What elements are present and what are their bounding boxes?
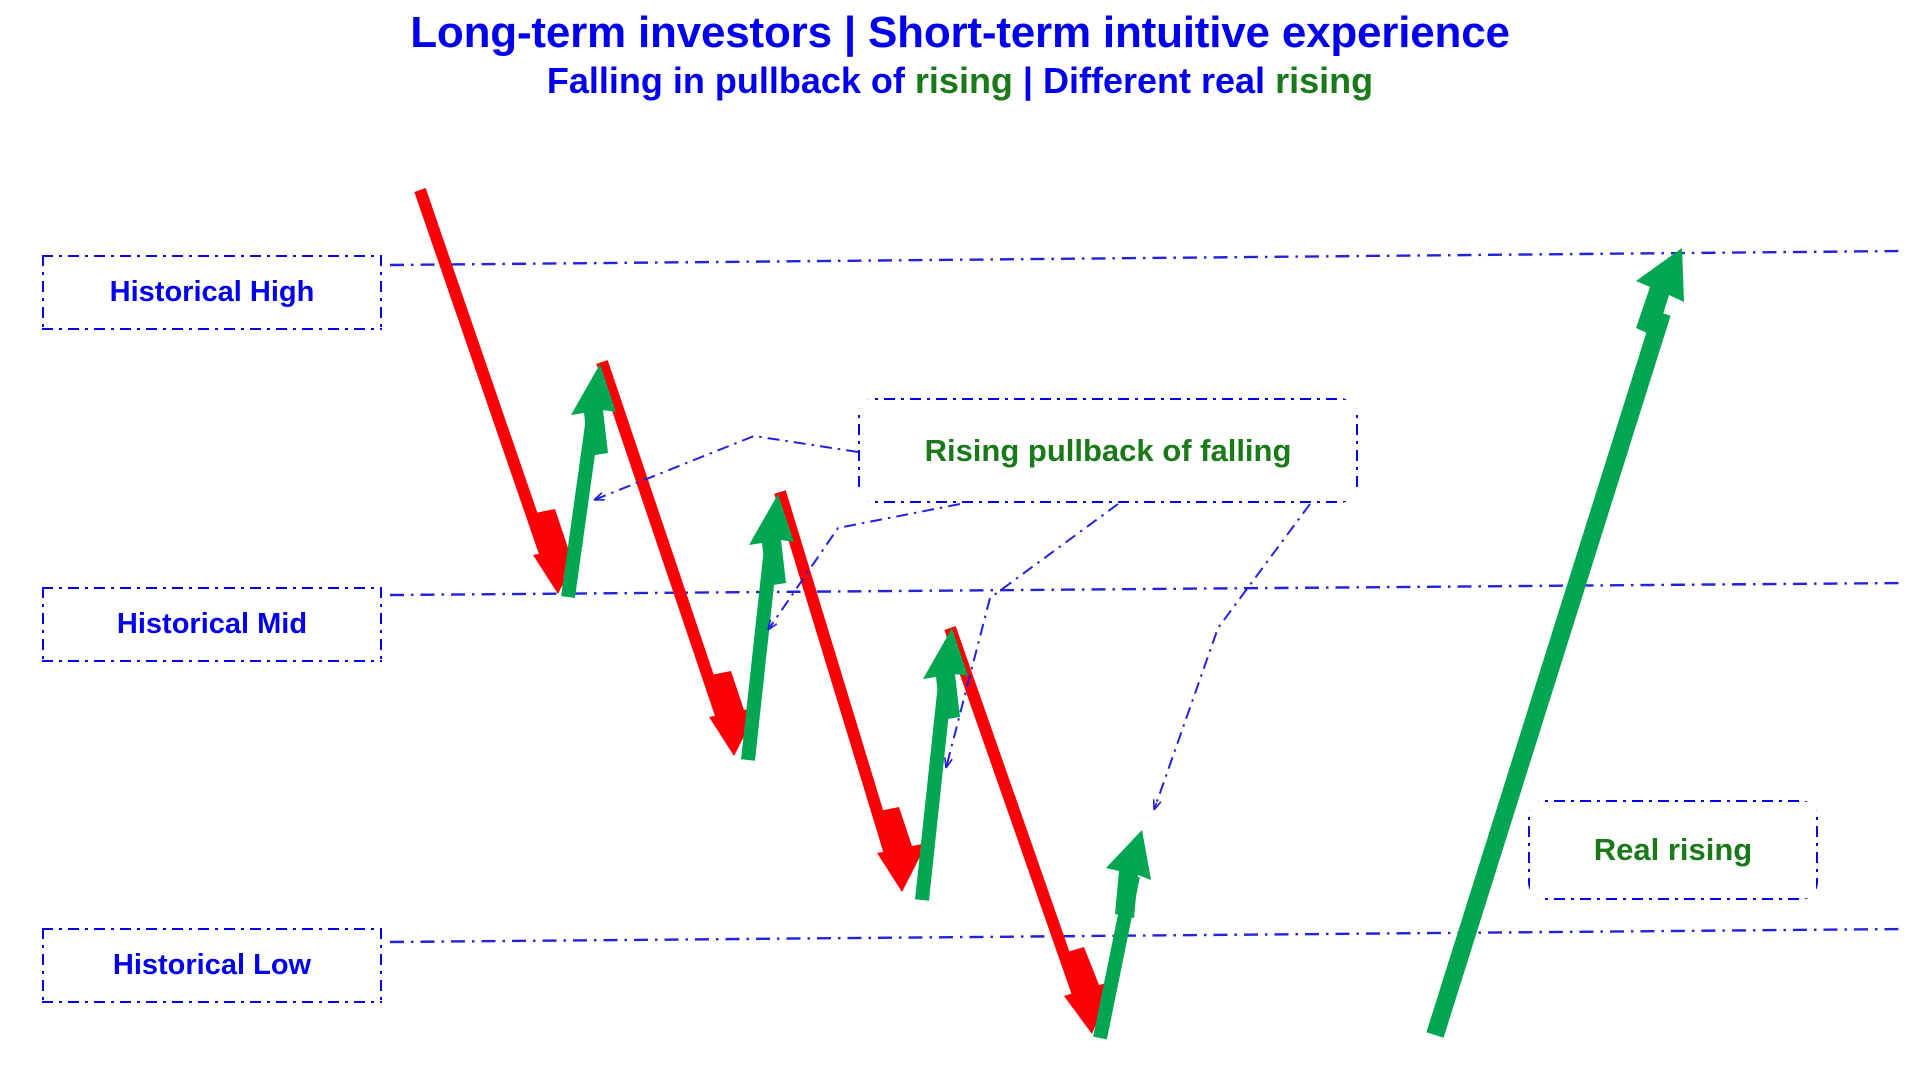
falling-arrow-1 [420, 190, 583, 594]
page-title: Long-term investors | Short-term intuiti… [0, 8, 1920, 57]
rising-arrows [568, 248, 1684, 1038]
callout-real-rising-text: Real rising [1594, 832, 1753, 868]
callout-pullback-text: Rising pullback of falling [925, 433, 1292, 469]
rising-arrow-2 [748, 494, 794, 760]
title-block: Long-term investors | Short-term intuiti… [0, 8, 1920, 102]
leader-line-to-rising-2 [768, 504, 960, 630]
reference-line-high [390, 251, 1905, 265]
subtitle-segment-2: | Different real [1013, 60, 1275, 101]
subtitle-green-1: rising [915, 60, 1013, 101]
axis-label-high-text: Historical High [110, 276, 315, 309]
callout-real-rising: Real rising [1528, 800, 1818, 900]
falling-arrow-2 [602, 362, 759, 756]
axis-label-historical-mid: Historical Mid [42, 587, 382, 662]
leader-line-to-rising-4 [1154, 504, 1310, 810]
subtitle-segment-1: Falling in pullback of [547, 60, 915, 101]
axis-label-historical-low: Historical Low [42, 928, 382, 1003]
callout-rising-pullback-of-falling: Rising pullback of falling [858, 398, 1358, 503]
reference-line-low [390, 929, 1905, 942]
rising-arrow-4 [1100, 830, 1151, 1038]
axis-label-mid-text: Historical Mid [117, 608, 307, 641]
diagram-canvas: Long-term investors | Short-term intuiti… [0, 0, 1920, 1080]
leader-line-to-rising-3 [946, 504, 1118, 768]
axis-label-historical-high: Historical High [42, 255, 382, 330]
falling-arrow-4 [950, 628, 1114, 1034]
falling-arrow-3 [780, 492, 927, 892]
rising-arrow-3 [922, 628, 968, 900]
page-subtitle: Falling in pullback of rising | Differen… [0, 61, 1920, 101]
axis-label-low-text: Historical Low [113, 949, 311, 982]
real-rising-arrow [1435, 248, 1684, 1035]
rising-arrow-1 [568, 364, 616, 597]
chart-artwork [0, 0, 1920, 1080]
reference-line-mid [390, 583, 1905, 595]
leader-line-to-rising-1 [594, 436, 858, 500]
subtitle-green-2: rising [1275, 60, 1373, 101]
falling-arrows [420, 190, 1114, 1034]
